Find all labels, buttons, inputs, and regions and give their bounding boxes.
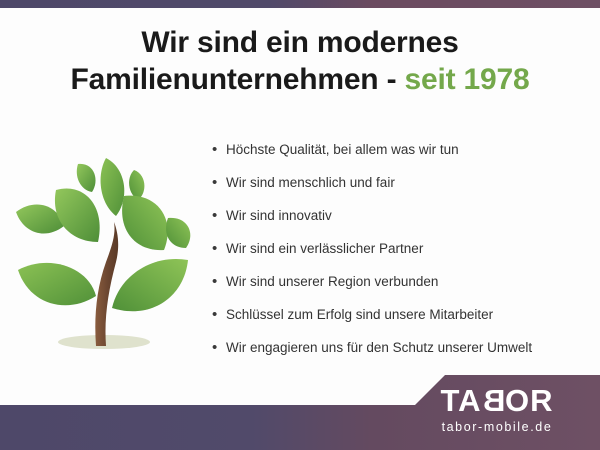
brand-logo: TABOR tabor-mobile.de [408,384,586,436]
list-item: • Wir sind innovativ [212,206,600,239]
bullet-marker-icon: • [212,338,226,358]
bullet-list: • Höchste Qualität, bei allem was wir tu… [212,140,600,371]
bullet-marker-icon: • [212,239,226,259]
list-item-label: Schlüssel zum Erfolg sind unsere Mitarbe… [226,305,493,325]
list-item: • Höchste Qualität, bei allem was wir tu… [212,140,600,173]
logo-or: OR [505,383,554,418]
tree-leaf [166,218,190,248]
list-item-label: Wir sind ein verlässlicher Partner [226,239,423,259]
headline-line-2: Familienunternehmen - seit 1978 [0,61,600,98]
headline-accent-year: seit 1978 [405,63,530,96]
footer-bar: TABOR tabor-mobile.de [0,370,600,450]
tree-leaf [122,196,168,250]
list-item: • Wir engagieren uns für den Schutz unse… [212,338,600,371]
bullet-marker-icon: • [212,206,226,226]
headline-line-2-main: Familienunternehmen - [71,63,405,96]
bullet-marker-icon: • [212,272,226,292]
logo-wordmark: TABOR [408,384,586,417]
headline-line-1: Wir sind ein modernes [0,24,600,61]
list-item: • Schlüssel zum Erfolg sind unsere Mitar… [212,305,600,338]
list-item: • Wir sind ein verlässlicher Partner [212,239,600,272]
tree-trunk [95,222,118,346]
bullet-marker-icon: • [212,173,226,193]
list-item-label: Wir engagieren uns für den Schutz unsere… [226,338,532,358]
logo-ta: TA [441,383,482,418]
bullet-marker-icon: • [212,140,226,160]
top-accent-bar [0,0,600,8]
slide-root: Wir sind ein modernes Familienunternehme… [0,0,600,450]
list-item-label: Höchste Qualität, bei allem was wir tun [226,140,459,160]
tree-leaf [129,170,144,200]
tree-leaf [101,158,125,216]
list-item-label: Wir sind unserer Region verbunden [226,272,438,292]
list-item: • Wir sind menschlich und fair [212,173,600,206]
logo-reversed-b: B [482,384,505,417]
list-item-label: Wir sind menschlich und fair [226,173,395,193]
list-item-label: Wir sind innovativ [226,206,332,226]
tree-leaf [112,259,188,311]
tree-leaf [18,263,96,305]
page-title: Wir sind ein modernes Familienunternehme… [0,24,600,98]
logo-website: tabor-mobile.de [408,418,586,436]
tree-leaf [77,164,96,192]
bullet-marker-icon: • [212,305,226,325]
tree-leaf [55,188,100,242]
list-item: • Wir sind unserer Region verbunden [212,272,600,305]
tree-illustration [12,150,192,355]
